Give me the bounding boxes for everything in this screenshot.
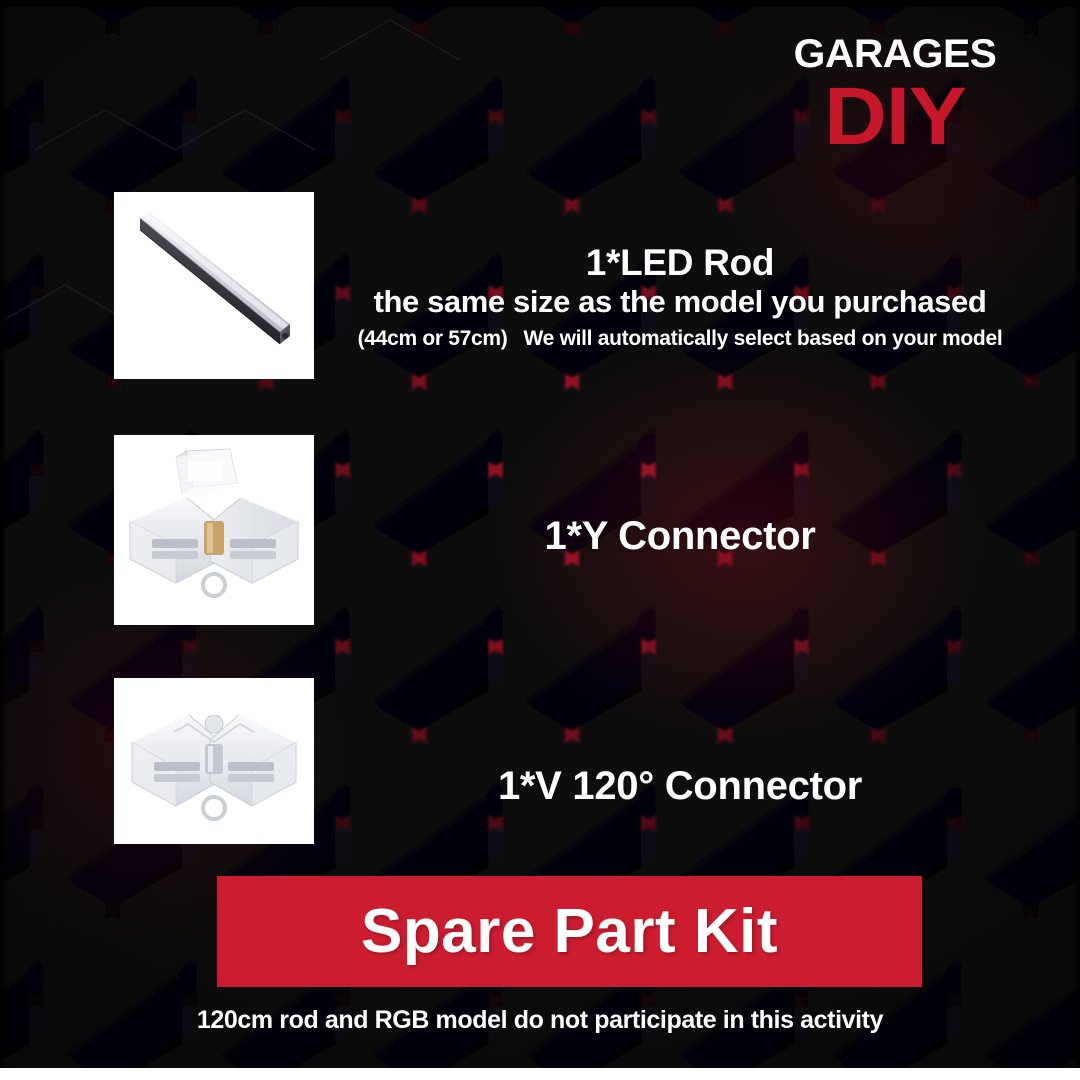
v-connector-thumbnail bbox=[114, 678, 314, 844]
y-connector-thumbnail bbox=[114, 435, 314, 625]
led-rod-note-text: We will automatically select based on yo… bbox=[524, 327, 1003, 350]
spare-part-kit-label: Spare Part Kit bbox=[361, 901, 778, 963]
led-rod-note-size: (44cm or 57cm) bbox=[358, 327, 508, 350]
promo-image-canvas: GARAGES DIY bbox=[0, 0, 1080, 1080]
brand-logo: GARAGES DIY bbox=[790, 34, 1000, 166]
v-connector-title: 1*V 120° Connector bbox=[340, 762, 1020, 810]
led-rod-subtitle: the same size as the model you purchased bbox=[340, 283, 1020, 321]
brand-name-garages: GARAGES bbox=[788, 34, 1002, 74]
brand-name-diy: DIY bbox=[784, 78, 1007, 156]
bottom-white-strip bbox=[0, 1068, 1080, 1080]
spare-part-kit-banner: Spare Part Kit bbox=[217, 876, 922, 987]
led-rod-title: 1*LED Rod bbox=[340, 241, 1020, 285]
led-rod-thumbnail bbox=[114, 192, 314, 379]
footer-disclaimer: 120cm rod and RGB model do not participa… bbox=[90, 1006, 990, 1035]
led-rod-note: (44cm or 57cm)We will automatically sele… bbox=[340, 325, 1020, 353]
y-connector-title: 1*Y Connector bbox=[340, 512, 1020, 560]
